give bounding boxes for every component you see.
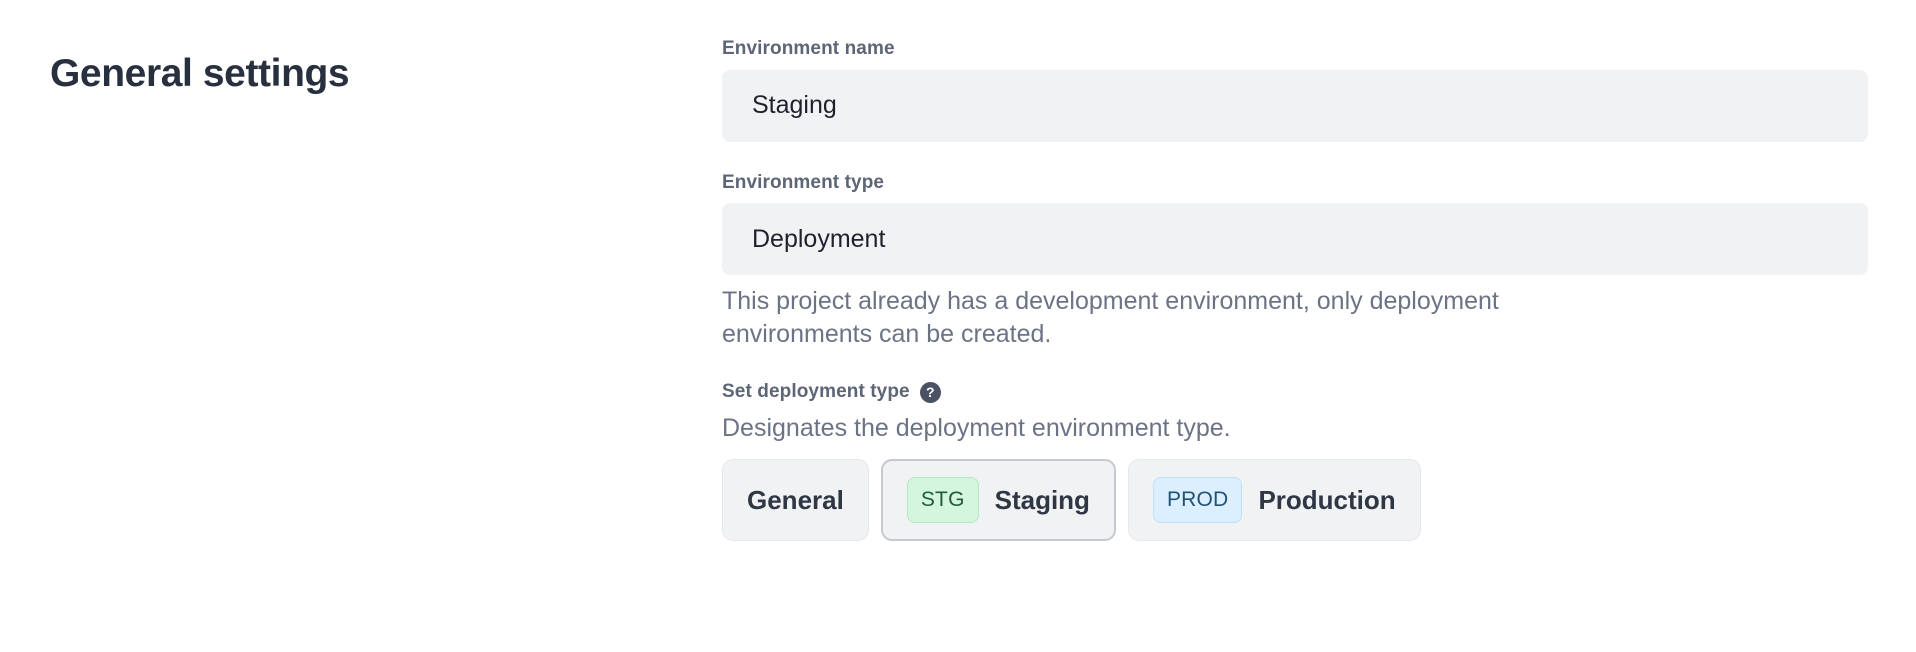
environment-name-input[interactable] bbox=[722, 70, 1868, 142]
deployment-type-label: Set deployment type bbox=[722, 381, 910, 403]
deployment-type-label-row: Set deployment type ? bbox=[722, 381, 1868, 403]
settings-form: Environment name Environment type This p… bbox=[722, 36, 1868, 541]
prod-badge: PROD bbox=[1153, 477, 1242, 523]
deployment-type-option-staging-label: Staging bbox=[995, 485, 1090, 516]
deployment-type-option-production[interactable]: PROD Production bbox=[1128, 459, 1421, 541]
environment-type-label: Environment type bbox=[722, 170, 1868, 196]
deployment-type-option-production-label: Production bbox=[1258, 485, 1395, 516]
deployment-type-option-general-label: General bbox=[747, 485, 844, 516]
environment-type-input[interactable] bbox=[722, 203, 1868, 275]
deployment-type-option-group: General STG Staging PROD Production bbox=[722, 459, 1868, 541]
deployment-type-option-staging[interactable]: STG Staging bbox=[881, 459, 1116, 541]
deployment-type-description: Designates the deployment environment ty… bbox=[722, 412, 1868, 445]
environment-name-field-group: Environment name bbox=[722, 36, 1868, 142]
page-title: General settings bbox=[50, 52, 349, 97]
stg-badge: STG bbox=[907, 477, 979, 523]
environment-name-label: Environment name bbox=[722, 36, 1868, 62]
deployment-type-section: Set deployment type ? Designates the dep… bbox=[722, 381, 1868, 541]
deployment-type-option-general[interactable]: General bbox=[722, 459, 869, 541]
general-settings-page: General settings Environment name Enviro… bbox=[0, 0, 1916, 652]
question-mark-icon[interactable]: ? bbox=[920, 382, 941, 403]
environment-type-help-text: This project already has a development e… bbox=[722, 285, 1642, 351]
environment-type-field-group: Environment type This project already ha… bbox=[722, 170, 1868, 352]
